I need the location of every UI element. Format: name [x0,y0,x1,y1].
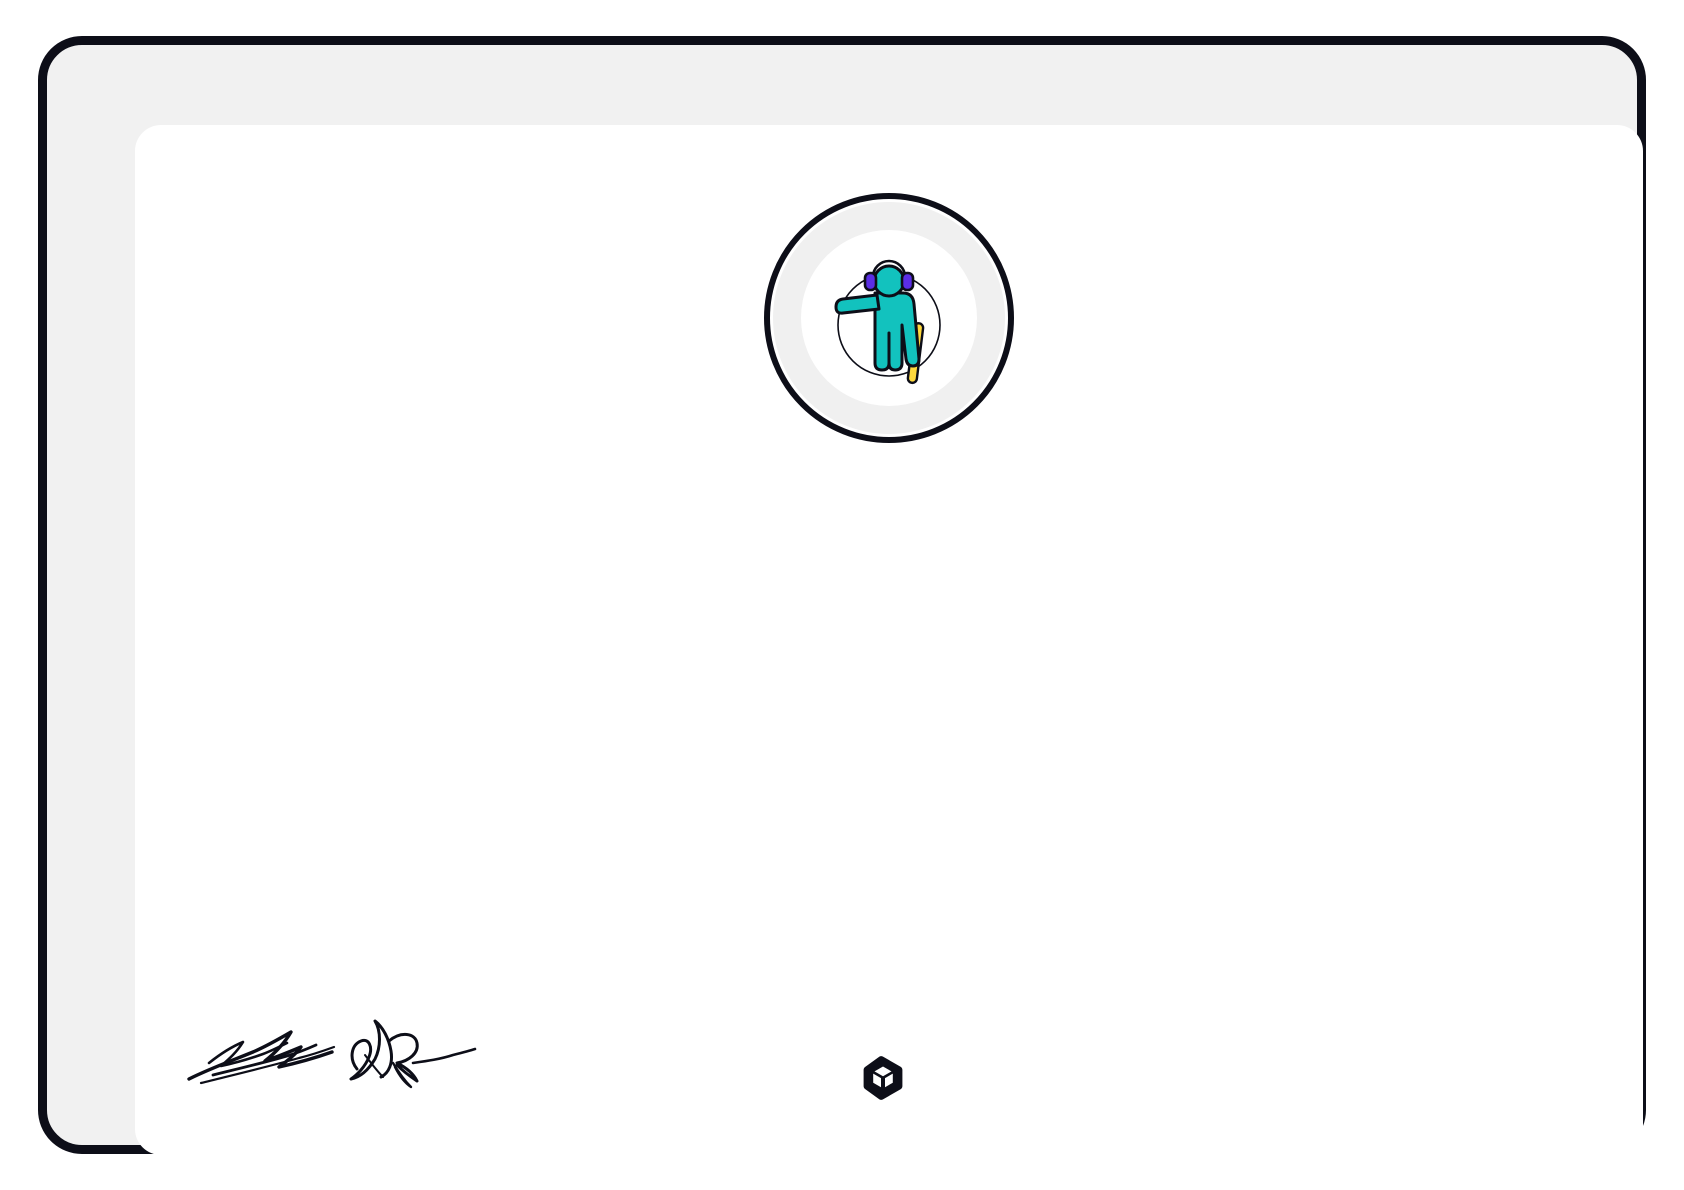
figure-head [874,266,904,296]
certificate-meta-block [1490,948,1601,1109]
signature-block [175,1011,515,1111]
certificate-page [0,0,1684,1190]
certificate-card [135,125,1643,1155]
uxcel-brand-logo [862,1055,916,1101]
verification-qr-code[interactable] [1490,948,1593,1051]
headphone-earcup-left [865,273,876,290]
certificate-footer [135,915,1643,1155]
meta-separator [1587,1083,1601,1108]
certificate-description [449,805,1329,845]
figure-arm [836,295,879,313]
issue-info [1490,1083,1601,1109]
headphone-earcup-right [902,273,913,290]
badge-seal-icon [703,173,1075,463]
uxcel-certified-badge [703,173,1075,463]
figure-body [875,293,919,370]
founders-signatures-image [179,1011,479,1097]
uxcel-hexagon-cube-icon [862,1055,904,1101]
certificate-outer-frame [38,36,1646,1154]
